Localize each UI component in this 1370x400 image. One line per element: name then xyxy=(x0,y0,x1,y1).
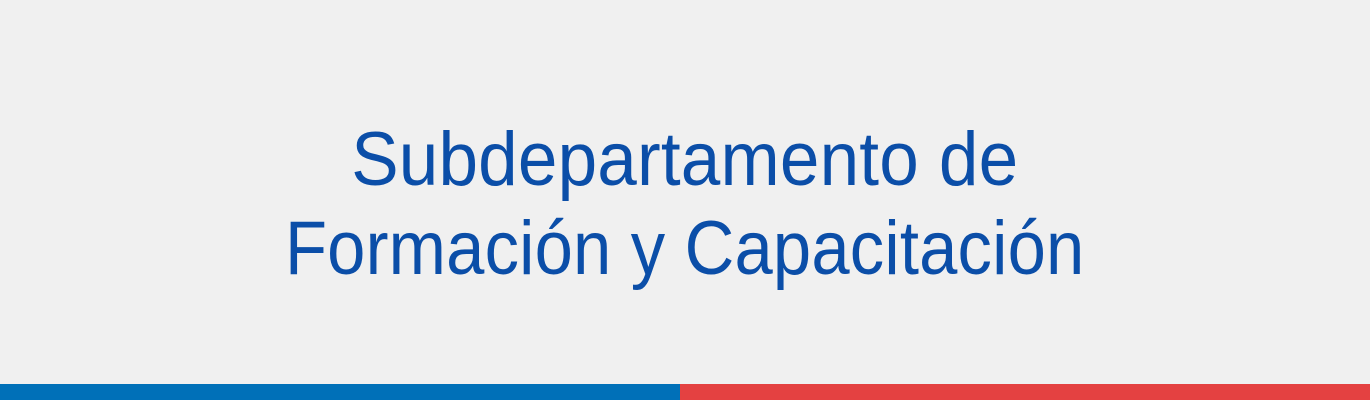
page-title-line-1: Subdepartamento de xyxy=(351,115,1018,204)
accent-bar-blue-segment xyxy=(0,384,680,400)
accent-bar-red-segment xyxy=(680,384,1370,400)
flag-accent-bar xyxy=(0,384,1370,400)
page-banner: Subdepartamento de Formación y Capacitac… xyxy=(0,0,1370,400)
page-title-line-2: Formación y Capacitación xyxy=(285,204,1084,293)
page-title: Subdepartamento de Formación y Capacitac… xyxy=(0,0,1370,384)
